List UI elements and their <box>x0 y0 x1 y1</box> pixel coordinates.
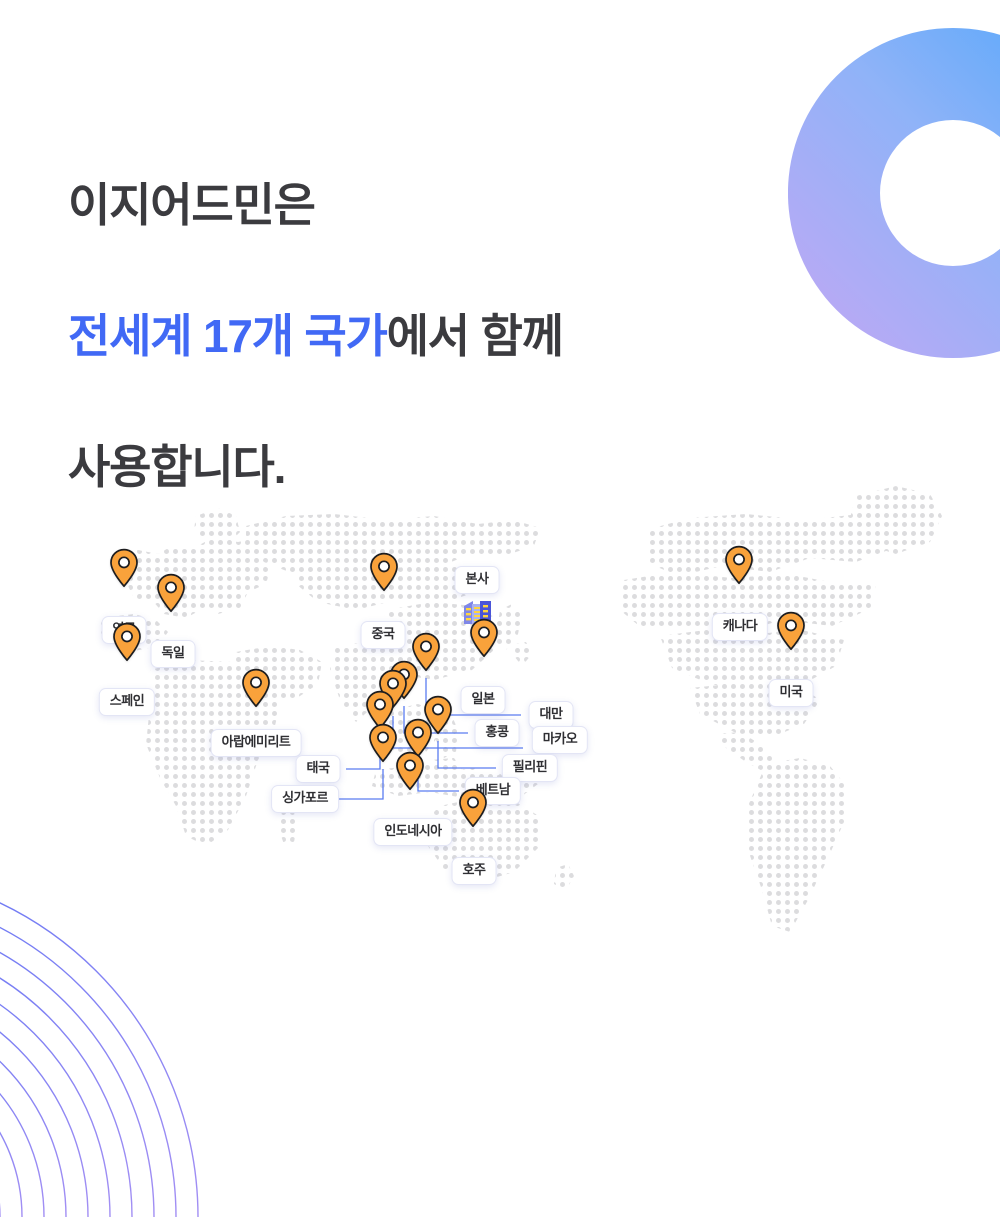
map-label-indonesia[interactable]: 인도네시아 <box>373 818 452 846</box>
map-pin-icon-germany[interactable] <box>156 573 186 613</box>
map-label-japan[interactable]: 일본 <box>461 686 506 714</box>
map-pin-icon-usa[interactable] <box>776 611 806 651</box>
quote-mark-1-icon <box>68 42 102 86</box>
map-label-hongkong[interactable]: 홍콩 <box>475 719 520 747</box>
map-label-hq[interactable]: 본사 <box>455 566 500 594</box>
map-label-usa[interactable]: 미국 <box>769 679 814 707</box>
map-label-taiwan[interactable]: 대만 <box>529 701 574 729</box>
map-pin-icon-china[interactable] <box>369 552 399 592</box>
headline-highlight: 전세계 17개 국가 <box>68 310 387 362</box>
map-label-spain[interactable]: 스페인 <box>99 688 155 716</box>
world-map: 영국 독일 스페인 아랍에미리트 중국 본사 일본 대만 홍콩 마카오 필리핀 … <box>0 430 1000 1010</box>
map-label-macao[interactable]: 마카오 <box>532 726 588 754</box>
hero-gradient-donut <box>788 28 1000 358</box>
headline-line-2-rest: 에서 함께 <box>387 310 563 362</box>
decorative-quote-marks <box>68 42 198 86</box>
map-label-canada[interactable]: 캐나다 <box>712 613 768 641</box>
map-pin-icon-canada[interactable] <box>724 545 754 585</box>
map-pin-icon-australia[interactable] <box>458 788 488 828</box>
map-label-singapore[interactable]: 싱가포르 <box>271 785 339 813</box>
map-pin-icon-japan[interactable] <box>469 618 499 658</box>
map-pin-icon-spain[interactable] <box>112 622 142 662</box>
map-pin-icon-uk[interactable] <box>109 548 139 588</box>
map-pin-icon-indonesia[interactable] <box>395 751 425 791</box>
map-label-uae[interactable]: 아랍에미리트 <box>211 729 302 757</box>
map-label-thailand[interactable]: 태국 <box>296 755 341 783</box>
map-label-australia[interactable]: 호주 <box>452 857 497 885</box>
map-label-china[interactable]: 중국 <box>361 621 406 649</box>
headline-line-1: 이지어드민은 <box>68 179 315 231</box>
map-label-germany[interactable]: 독일 <box>151 640 196 668</box>
map-pin-icon-singapore[interactable] <box>368 723 398 763</box>
quote-mark-2-icon <box>116 42 150 86</box>
map-pin-icon-uae[interactable] <box>241 668 271 708</box>
quote-mark-3-icon <box>164 42 198 86</box>
